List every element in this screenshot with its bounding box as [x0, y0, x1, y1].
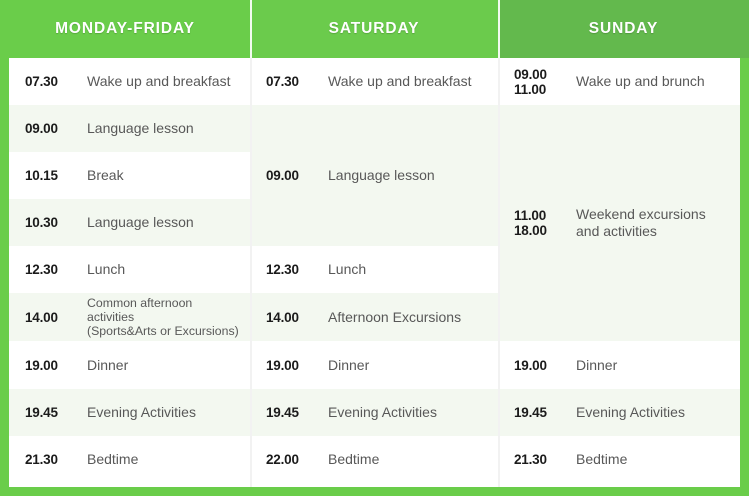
schedule-cell-description: Language lesson	[87, 120, 194, 137]
schedule-cell: 10.30Language lesson	[9, 199, 250, 246]
schedule-cell-time: 07.30	[25, 74, 73, 89]
schedule-cell: 21.30Bedtime	[500, 436, 740, 483]
schedule-cell-time: 12.30	[266, 262, 314, 277]
schedule-cell: 19.00Dinner	[500, 341, 740, 389]
schedule-column-filler	[9, 483, 250, 487]
schedule-cell: 22.00Bedtime	[252, 436, 498, 483]
schedule-cell: 19.00Dinner	[9, 341, 250, 389]
schedule-header-row: MONDAY-FRIDAY SATURDAY SUNDAY	[0, 0, 749, 58]
schedule-cell-description: Wake up and breakfast	[87, 73, 230, 90]
schedule-cell: 07.30Wake up and breakfast	[252, 58, 498, 105]
schedule-cell: 19.00Dinner	[252, 341, 498, 389]
schedule-cell-time: 10.30	[25, 215, 73, 230]
schedule-cell-description: Evening Activities	[576, 404, 685, 421]
schedule-cell: 19.45Evening Activities	[252, 389, 498, 436]
column-header-label: MONDAY-FRIDAY	[55, 20, 195, 38]
schedule-cell-time: 19.00	[25, 358, 73, 373]
schedule-cell: 19.45Evening Activities	[500, 389, 740, 436]
schedule-cell-description: Bedtime	[328, 451, 379, 468]
schedule-cell-description: Afternoon Excursions	[328, 309, 461, 326]
schedule-cell: 19.45Evening Activities	[9, 389, 250, 436]
schedule-cell: 14.00Common afternoon activities (Sports…	[9, 293, 250, 341]
schedule-cell: 14.00Afternoon Excursions	[252, 293, 498, 341]
schedule-cell-time: 22.00	[266, 452, 314, 467]
schedule-cell-description: Bedtime	[576, 451, 627, 468]
schedule-column-monday-friday: 07.30Wake up and breakfast09.00Language …	[9, 58, 250, 487]
schedule-cell-time: 19.45	[266, 405, 314, 420]
schedule-cell-description: Language lesson	[87, 214, 194, 231]
schedule-cell-time: 07.30	[266, 74, 314, 89]
schedule-column-filler	[252, 483, 498, 487]
schedule-cell-description: Evening Activities	[328, 404, 437, 421]
schedule-cell-description: Dinner	[576, 357, 617, 374]
schedule-cell-time: 10.15	[25, 168, 73, 183]
schedule-body: 07.30Wake up and breakfast09.00Language …	[0, 58, 749, 496]
schedule-cell-description: Lunch	[328, 261, 366, 278]
column-header-monday-friday[interactable]: MONDAY-FRIDAY	[0, 0, 250, 58]
schedule-cell: 07.30Wake up and breakfast	[9, 58, 250, 105]
schedule-cell-description: Dinner	[328, 357, 369, 374]
schedule-cell: 11.00 18.00Weekend excursions and activi…	[500, 105, 740, 341]
schedule-cell: 10.15Break	[9, 152, 250, 199]
schedule-cell-description: Wake up and breakfast	[328, 73, 471, 90]
schedule-cell-time: 12.30	[25, 262, 73, 277]
schedule-cell: 21.30Bedtime	[9, 436, 250, 483]
schedule-cell-time: 21.30	[25, 452, 73, 467]
schedule-column-saturday: 07.30Wake up and breakfast09.00Language …	[250, 58, 498, 487]
schedule-cell: 09.00Language lesson	[9, 105, 250, 152]
schedule-column-sunday: 09.00 11.00Wake up and brunch11.00 18.00…	[498, 58, 740, 487]
schedule-cell-time: 09.00 11.00	[514, 67, 562, 97]
schedule-cell: 12.30Lunch	[252, 246, 498, 293]
schedule-cell-description: Lunch	[87, 261, 125, 278]
schedule-cell-description: Common afternoon activities (Sports&Arts…	[87, 296, 240, 338]
column-header-sunday[interactable]: SUNDAY	[498, 0, 749, 58]
schedule-cell-time: 19.00	[266, 358, 314, 373]
column-header-label: SATURDAY	[329, 20, 420, 38]
schedule-cell-time: 14.00	[25, 310, 73, 325]
schedule-cell-time: 21.30	[514, 452, 562, 467]
column-header-label: SUNDAY	[589, 20, 658, 38]
schedule-cell-time: 19.45	[514, 405, 562, 420]
schedule-cell-time: 19.45	[25, 405, 73, 420]
schedule-cell: 12.30Lunch	[9, 246, 250, 293]
schedule-cell-time: 11.00 18.00	[514, 208, 562, 238]
schedule-cell-description: Bedtime	[87, 451, 138, 468]
column-header-saturday[interactable]: SATURDAY	[250, 0, 498, 58]
schedule-table: MONDAY-FRIDAY SATURDAY SUNDAY 07.30Wake …	[0, 0, 749, 496]
schedule-cell-description: Break	[87, 167, 124, 184]
schedule-cell-description: Dinner	[87, 357, 128, 374]
schedule-cell: 09.00Language lesson	[252, 105, 498, 246]
schedule-cell-description: Evening Activities	[87, 404, 196, 421]
schedule-cell-time: 09.00	[266, 168, 314, 183]
schedule-cell-description: Language lesson	[328, 167, 435, 184]
schedule-cell-time: 14.00	[266, 310, 314, 325]
schedule-cell-description: Weekend excursions and activities	[576, 206, 706, 240]
schedule-cell: 09.00 11.00Wake up and brunch	[500, 58, 740, 105]
schedule-cell-time: 19.00	[514, 358, 562, 373]
schedule-cell-time: 09.00	[25, 121, 73, 136]
schedule-column-filler	[500, 483, 740, 487]
schedule-cell-description: Wake up and brunch	[576, 73, 705, 90]
